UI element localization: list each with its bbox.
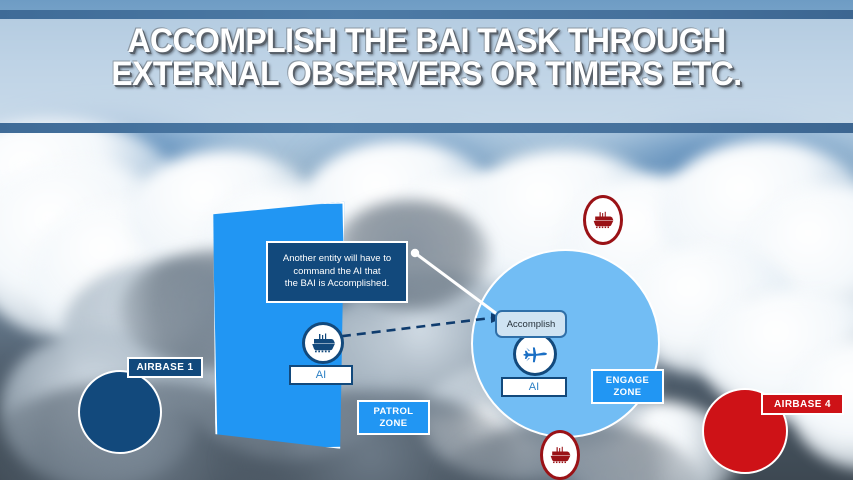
ai-ship-label-text: AI [316,369,326,381]
ai-jet-label-text: AI [529,381,539,393]
callout-text: Another entity will have to command the … [283,253,391,291]
airbase-1-marker[interactable] [78,370,162,454]
fighter-jet-icon [519,338,551,370]
hostile-ship-badge-1[interactable] [583,195,623,245]
header-band [0,10,853,132]
airbase-1-label-text: AIRBASE 1 [137,362,194,373]
engage-zone-label-text: ENGAGE ZONE [606,375,650,399]
engage-zone-circle[interactable] [471,249,660,438]
ai-jet-badge[interactable] [513,332,557,376]
ship-icon [308,328,338,358]
ai-jet-label: AI [501,377,567,397]
header-rule-bottom [0,123,853,133]
ai-ship-badge[interactable] [302,322,344,364]
header-rule-top [0,10,853,19]
slide-canvas: ACCOMPLISH THE BAI TASK THROUGH EXTERNAL… [0,0,853,480]
accomplish-command-box[interactable]: Accomplish [495,310,567,338]
airbase-4-label-text: AIRBASE 4 [774,399,831,410]
hostile-ship-icon [547,442,573,468]
patrol-zone-label-text: PATROL ZONE [373,406,413,430]
airbase-4-label: AIRBASE 4 [761,393,844,415]
ai-ship-label: AI [289,365,353,385]
hostile-ship-badge-2[interactable] [540,430,580,480]
accomplish-label: Accomplish [507,319,556,330]
engage-zone-label: ENGAGE ZONE [591,369,664,404]
airbase-1-label: AIRBASE 1 [127,357,203,378]
callout-box: Another entity will have to command the … [266,241,408,303]
patrol-zone-label: PATROL ZONE [357,400,430,435]
hostile-ship-icon [590,207,616,233]
